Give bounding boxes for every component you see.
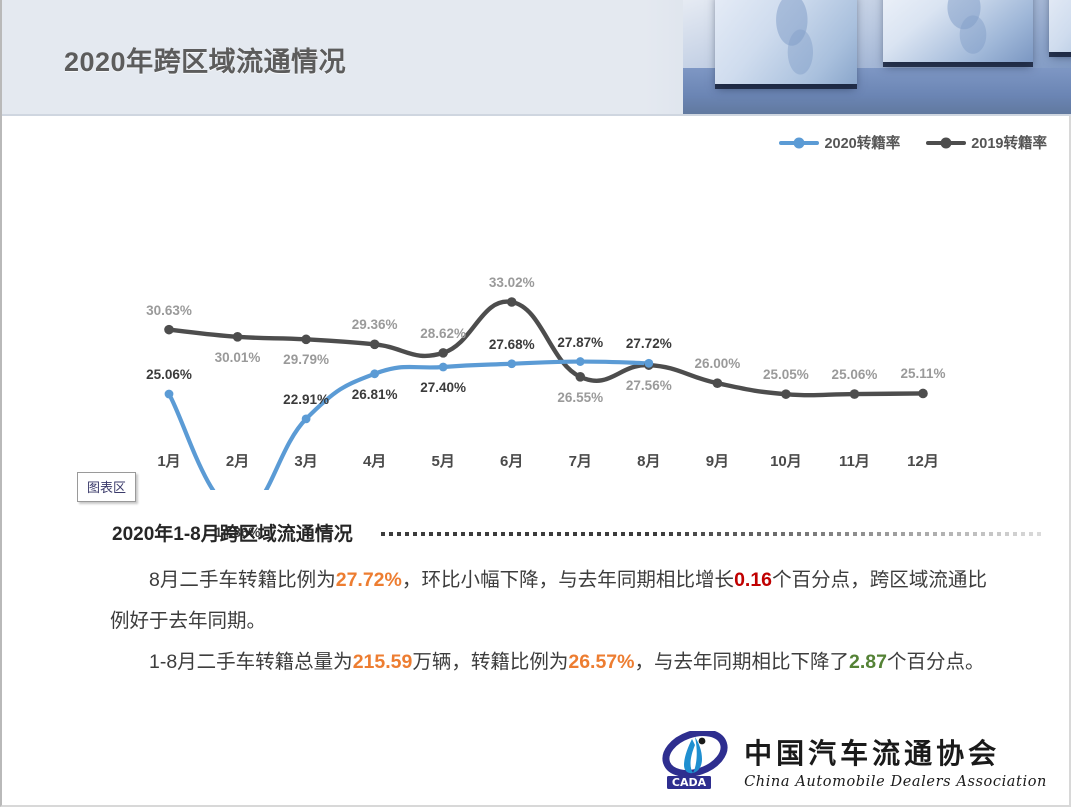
series-point-2020转籍率[interactable] — [507, 359, 516, 368]
x-axis-label-12月: 12月 — [907, 450, 939, 471]
p1-seg2: ，环比小幅下降，与去年同期相比增长 — [402, 569, 734, 591]
logo-text-block: 中国汽车流通协会 China Automobile Dealers Associ… — [744, 732, 1047, 790]
logo-name-en: China Automobile Dealers Association — [744, 774, 1047, 790]
data-label-2019转籍率-8月: 27.56% — [626, 378, 672, 393]
p1-seg1: 8月二手车转籍比例为 — [149, 569, 336, 591]
summary-body: 8月二手车转籍比例为27.72%，环比小幅下降，与去年同期相比增长0.16个百分… — [2, 560, 1071, 683]
series-point-2020转籍率[interactable] — [644, 359, 653, 368]
x-axis-label-7月: 7月 — [569, 450, 592, 471]
p1-highlight-rate: 27.72% — [336, 569, 402, 591]
data-label-2019转籍率-1月: 30.63% — [146, 303, 192, 318]
series-point-2019转籍率[interactable] — [575, 372, 585, 382]
series-point-2019转籍率[interactable] — [233, 332, 243, 342]
p2-seg1: 1-8月二手车转籍总量为 — [149, 651, 353, 673]
series-point-2020转籍率[interactable] — [165, 390, 174, 399]
data-label-2019转籍率-2月: 30.01% — [215, 350, 261, 365]
p2-highlight-delta: 2.87 — [849, 651, 887, 673]
summary-paragraph-1: 8月二手车转籍比例为27.72%，环比小幅下降，与去年同期相比增长0.16个百分… — [110, 560, 987, 642]
x-axis-label-5月: 5月 — [432, 450, 455, 471]
p2-seg3: ，与去年同期相比下降了 — [635, 651, 850, 673]
x-axis-label-1月: 1月 — [157, 450, 180, 471]
data-label-2019转籍率-11月: 25.06% — [832, 367, 878, 382]
world-map-icon — [769, 0, 826, 76]
series-point-2019转籍率[interactable] — [918, 389, 928, 399]
legend-swatch-2019 — [926, 141, 966, 145]
summary-heading-row: 2020年1-8月跨区域流通情况 — [2, 516, 1071, 548]
series-point-2020转籍率[interactable] — [302, 415, 311, 424]
data-label-2020转籍率-1月: 25.06% — [146, 367, 192, 382]
series-point-2019转籍率[interactable] — [713, 378, 723, 388]
x-axis-label-8月: 8月 — [637, 450, 660, 471]
data-label-2019转籍率-4月: 29.36% — [352, 317, 398, 332]
cada-logo-mark-icon: CADA — [662, 731, 734, 791]
legend-item-2019[interactable]: 2019转籍率 — [926, 132, 1047, 153]
data-label-2019转籍率-5月: 28.62% — [420, 326, 466, 341]
cada-logo: CADA 中国汽车流通协会 China Automobile Dealers A… — [662, 731, 1047, 791]
data-label-2020转籍率-6月: 27.68% — [489, 337, 535, 352]
p2-seg2: 万辆，转籍比例为 — [412, 651, 568, 673]
x-axis-label-4月: 4月 — [363, 450, 386, 471]
header-artwork — [683, 0, 1071, 114]
chart-region: 2020转籍率 2019转籍率 25.06%14.86%22.91%26.81%… — [2, 120, 1071, 490]
x-axis-label-9月: 9月 — [706, 450, 729, 471]
data-label-2019转籍率-10月: 25.05% — [763, 367, 809, 382]
series-line-2019转籍率[interactable] — [169, 302, 923, 396]
summary-section: 2020年1-8月跨区域流通情况 8月二手车转籍比例为27.72%，环比小幅下降… — [2, 516, 1071, 683]
legend-label-2020: 2020转籍率 — [824, 132, 900, 153]
x-axis-label-10月: 10月 — [770, 450, 802, 471]
legend-swatch-2020 — [779, 141, 819, 145]
p1-highlight-delta: 0.16 — [734, 569, 772, 591]
p2-seg4: 个百分点。 — [887, 651, 985, 673]
series-point-2019转籍率[interactable] — [438, 348, 448, 358]
data-label-2019转籍率-3月: 29.79% — [283, 352, 329, 367]
series-point-2020转籍率[interactable] — [576, 357, 585, 366]
series-point-2019转籍率[interactable] — [301, 335, 311, 345]
artwork-cube-2 — [883, 0, 1033, 62]
series-point-2019转籍率[interactable] — [781, 389, 791, 399]
logo-name-cn: 中国汽车流通协会 — [744, 732, 1047, 772]
data-label-2019转籍率-6月: 33.02% — [489, 275, 535, 290]
data-label-2019转籍率-12月: 25.11% — [900, 366, 945, 381]
data-label-2019转籍率-9月: 26.00% — [694, 356, 740, 371]
chart-area-tooltip: 图表区 — [77, 472, 136, 502]
legend-item-2020[interactable]: 2020转籍率 — [779, 132, 900, 153]
chart-legend: 2020转籍率 2019转籍率 — [779, 132, 1047, 153]
data-label-2019转籍率-7月: 26.55% — [557, 390, 603, 405]
series-point-2019转籍率[interactable] — [370, 340, 380, 350]
p2-highlight-volume: 215.59 — [353, 651, 413, 673]
series-point-2019转籍率[interactable] — [507, 297, 517, 307]
artwork-cube-1 — [715, 0, 857, 84]
dotted-divider — [381, 532, 1043, 537]
data-label-2020转籍率-7月: 27.87% — [557, 335, 603, 350]
data-label-2020转籍率-3月: 22.91% — [283, 392, 329, 407]
data-label-2020转籍率-5月: 27.40% — [420, 380, 466, 395]
logo-abbrev-text: CADA — [672, 776, 707, 789]
series-point-2019转籍率[interactable] — [850, 389, 860, 399]
series-point-2020转籍率[interactable] — [439, 363, 448, 372]
slide-canvas: 2020年跨区域流通情况 2020转籍率 2019转籍率 25.06%14.86… — [0, 0, 1071, 807]
x-axis-label-6月: 6月 — [500, 450, 523, 471]
p2-highlight-rate: 26.57% — [568, 651, 634, 673]
header-divider — [2, 114, 1071, 116]
slide-header: 2020年跨区域流通情况 — [2, 0, 1071, 114]
x-axis-label-3月: 3月 — [294, 450, 317, 471]
page-title: 2020年跨区域流通情况 — [64, 40, 346, 79]
summary-paragraph-2: 1-8月二手车转籍总量为215.59万辆，转籍比例为26.57%，与去年同期相比… — [110, 642, 987, 683]
x-axis-label-11月: 11月 — [839, 450, 870, 471]
x-axis-label-2月: 2月 — [226, 450, 249, 471]
artwork-cube-3 — [1049, 0, 1071, 52]
data-label-2020转籍率-4月: 26.81% — [352, 387, 398, 402]
data-label-2020转籍率-8月: 27.72% — [626, 336, 672, 351]
summary-heading: 2020年1-8月跨区域流通情况 — [112, 519, 353, 546]
series-point-2020转籍率[interactable] — [370, 369, 379, 378]
world-map-icon — [940, 0, 1000, 55]
legend-label-2019: 2019转籍率 — [971, 132, 1047, 153]
series-point-2019转籍率[interactable] — [164, 325, 174, 335]
